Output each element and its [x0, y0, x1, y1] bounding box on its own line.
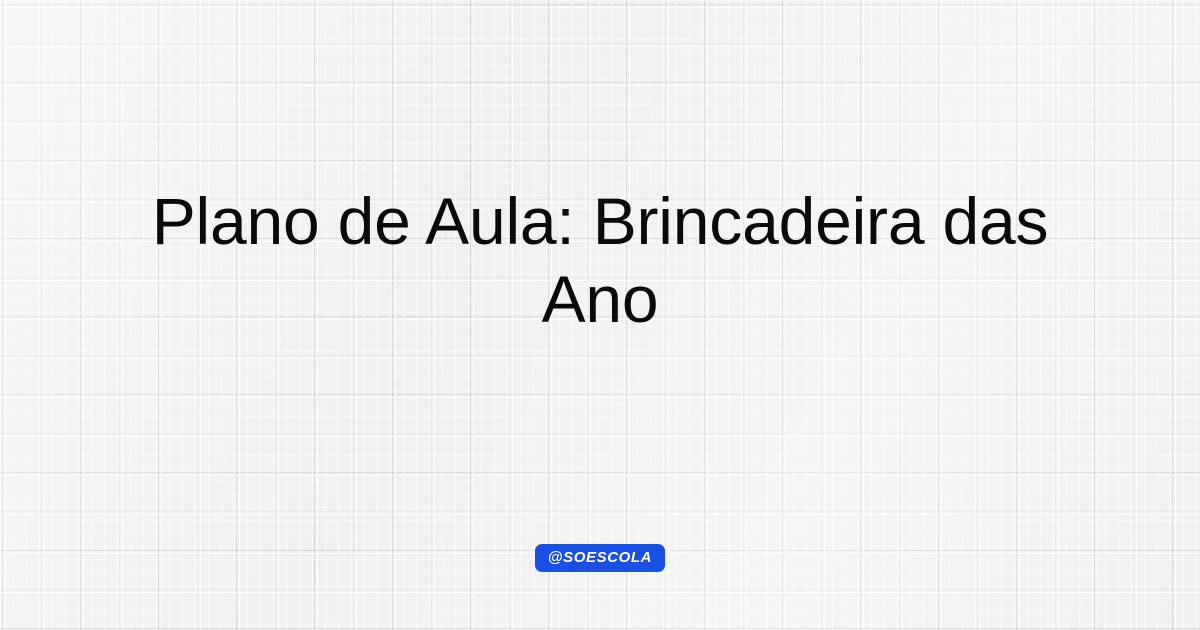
title-container: Plano de Aula: Brincadeira das Ano [0, 0, 1200, 520]
brand-handle-badge: @SOESCOLA [535, 544, 665, 572]
page-title: Plano de Aula: Brincadeira das Ano [120, 182, 1080, 338]
badge-container: @SOESCOLA [0, 544, 1200, 572]
poster-canvas: Plano de Aula: Brincadeira das Ano @SOES… [0, 0, 1200, 630]
